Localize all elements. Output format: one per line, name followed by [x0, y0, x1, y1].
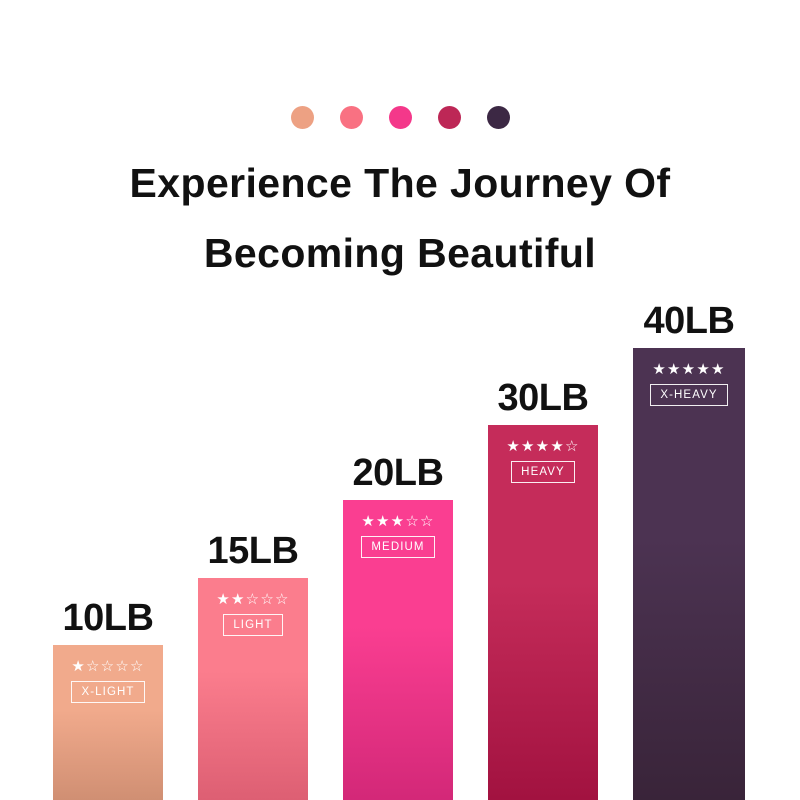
- bar-weight-label: 30LB: [488, 377, 598, 420]
- star-rating-icon: ★★★★★: [652, 362, 725, 377]
- bar-group-x-light[interactable]: 10LB★☆☆☆☆X-LIGHT: [53, 645, 163, 800]
- bar-weight-label: 40LB: [633, 300, 745, 343]
- star-rating-icon: ★☆☆☆☆: [71, 659, 144, 674]
- bar-group-medium[interactable]: 20LB★★★☆☆MEDIUM: [343, 500, 453, 800]
- bar-weight-label: 10LB: [53, 597, 163, 640]
- bar-weight-label: 15LB: [198, 530, 308, 573]
- star-rating-icon: ★★★☆☆: [361, 514, 434, 529]
- bar-light[interactable]: ★★☆☆☆LIGHT: [198, 578, 308, 800]
- level-badge: HEAVY: [511, 461, 575, 483]
- level-badge: X-HEAVY: [650, 384, 727, 406]
- bar-content: ★★★☆☆MEDIUM: [343, 514, 453, 558]
- level-badge: LIGHT: [223, 614, 282, 636]
- bar-content: ★★★★★X-HEAVY: [633, 362, 745, 406]
- bar-medium[interactable]: ★★★☆☆MEDIUM: [343, 500, 453, 800]
- bar-x-heavy[interactable]: ★★★★★X-HEAVY: [633, 348, 745, 800]
- level-badge: MEDIUM: [361, 536, 434, 558]
- bar-content: ★★☆☆☆LIGHT: [198, 592, 308, 636]
- bar-content: ★★★★☆HEAVY: [488, 439, 598, 483]
- star-rating-icon: ★★☆☆☆: [216, 592, 289, 607]
- bar-content: ★☆☆☆☆X-LIGHT: [53, 659, 163, 703]
- bar-group-x-heavy[interactable]: 40LB★★★★★X-HEAVY: [633, 348, 745, 800]
- resistance-level-bar-chart: 10LB★☆☆☆☆X-LIGHT15LB★★☆☆☆LIGHT20LB★★★☆☆M…: [0, 0, 800, 800]
- star-rating-icon: ★★★★☆: [506, 439, 579, 454]
- level-badge: X-LIGHT: [71, 681, 144, 703]
- bar-weight-label: 20LB: [343, 452, 453, 495]
- bar-heavy[interactable]: ★★★★☆HEAVY: [488, 425, 598, 800]
- bar-group-heavy[interactable]: 30LB★★★★☆HEAVY: [488, 425, 598, 800]
- bar-x-light[interactable]: ★☆☆☆☆X-LIGHT: [53, 645, 163, 800]
- infographic-poster: Experience The Journey Of Becoming Beaut…: [0, 0, 800, 800]
- bar-group-light[interactable]: 15LB★★☆☆☆LIGHT: [198, 578, 308, 800]
